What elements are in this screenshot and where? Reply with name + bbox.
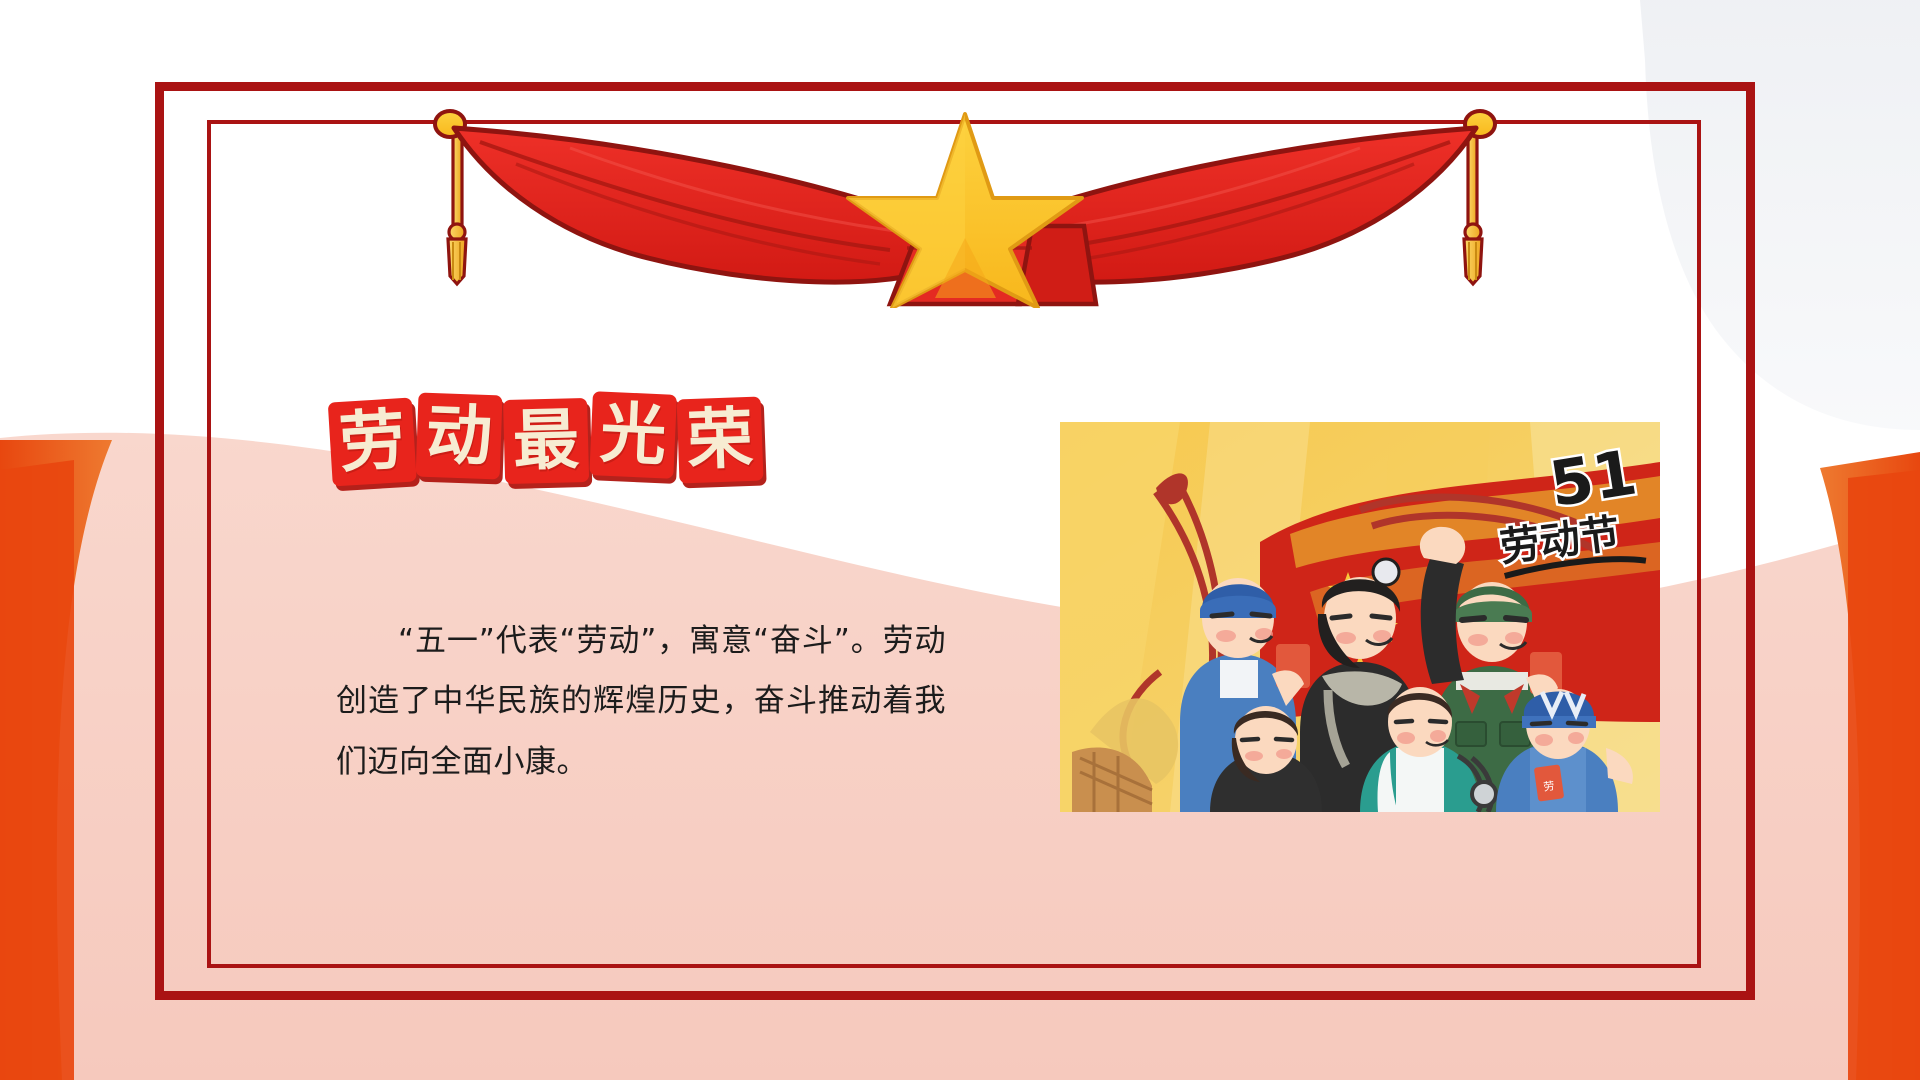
red-drape-banner bbox=[420, 108, 1510, 308]
title-char-5: 荣 bbox=[677, 397, 764, 484]
svg-text:劳: 劳 bbox=[1543, 779, 1556, 793]
title-char-1: 劳 bbox=[328, 398, 417, 487]
orange-wedge-right-core bbox=[1848, 470, 1920, 1080]
body-paragraph: “五一”代表“劳动”，寓意“奋斗”。劳动创造了中华民族的辉煌历史，奋斗推动着我们… bbox=[336, 611, 946, 792]
orange-wedge-left-core bbox=[0, 460, 74, 1080]
labor-day-illustration: 劳 51 劳动节 bbox=[1060, 422, 1660, 812]
title-char-2: 动 bbox=[416, 393, 503, 480]
page-title: 劳 动 最 光 荣 bbox=[330, 396, 765, 480]
caption-number: 51 bbox=[1545, 435, 1642, 521]
title-char-3: 最 bbox=[503, 398, 589, 484]
title-char-4: 光 bbox=[589, 391, 677, 479]
slide-canvas: 劳 动 最 光 荣 “五一”代表“劳动”，寓意“奋斗”。劳动创造了中华民族的辉煌… bbox=[0, 0, 1920, 1080]
